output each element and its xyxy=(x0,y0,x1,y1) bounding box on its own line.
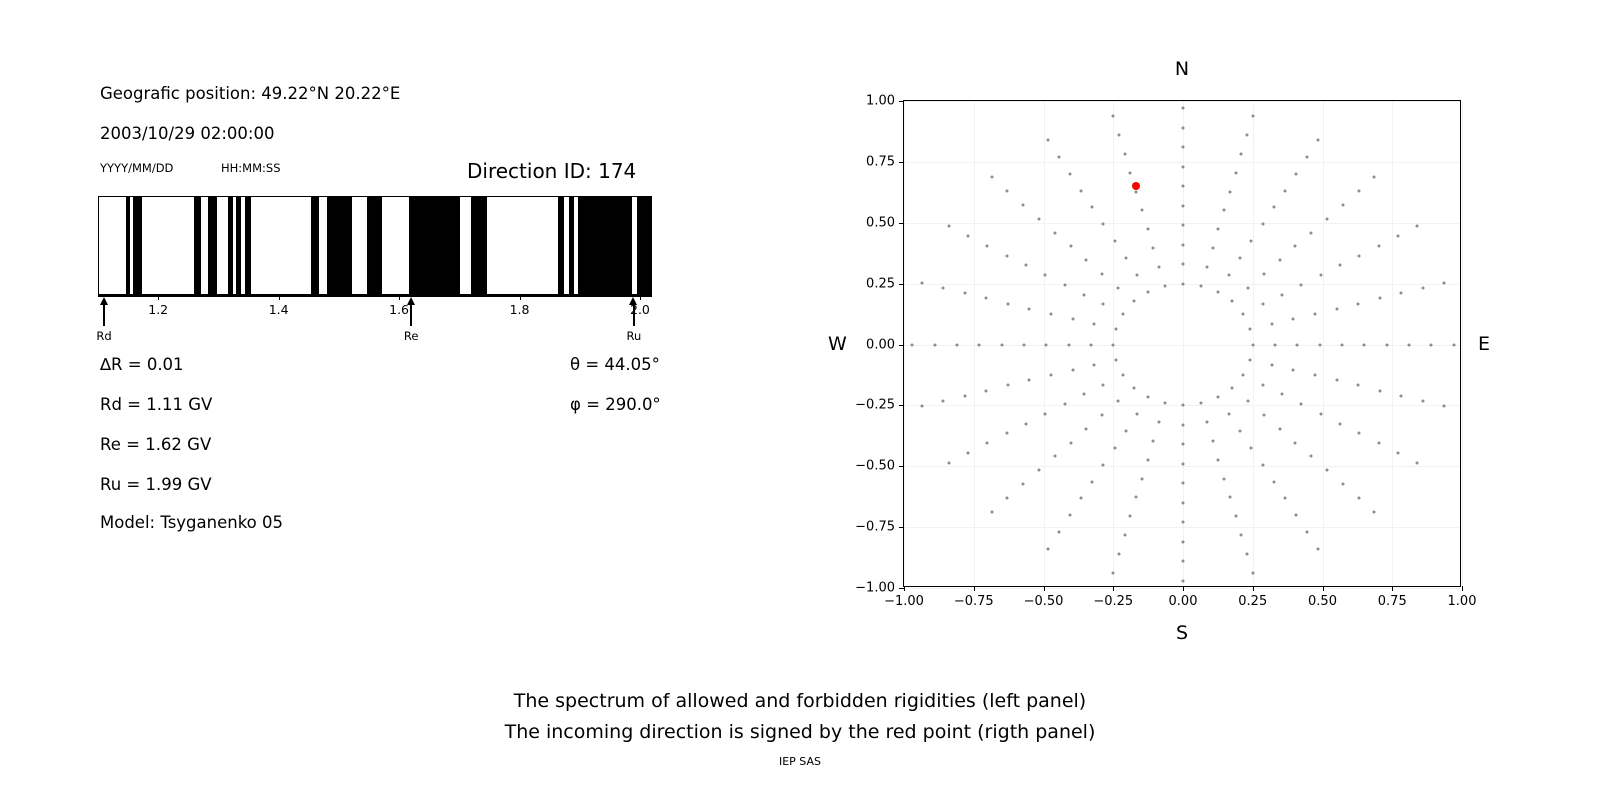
direction-point xyxy=(1234,515,1237,518)
direction-point xyxy=(1314,312,1317,315)
marker-label-re: Re xyxy=(404,329,419,343)
direction-point xyxy=(1044,274,1047,277)
plot-y-tick-label: 0.00 xyxy=(866,337,895,352)
direction-point xyxy=(1397,235,1400,238)
plot-y-tick xyxy=(899,223,904,224)
direction-grid-plot: −1.00−0.75−0.50−0.250.000.250.500.751.00… xyxy=(903,100,1461,587)
direction-point xyxy=(1182,243,1185,246)
direction-point xyxy=(1163,284,1166,287)
plot-y-tick-label: 0.50 xyxy=(866,215,895,230)
direction-point xyxy=(1378,297,1381,300)
gridline-horizontal xyxy=(904,466,1460,467)
direction-point xyxy=(1182,423,1185,426)
direction-point xyxy=(1135,273,1138,276)
marker-arrowhead-ru xyxy=(629,297,637,305)
direction-point xyxy=(1049,374,1052,377)
marker-arrow-rd xyxy=(103,304,105,326)
direction-point xyxy=(1443,282,1446,285)
plot-x-tick-label: 0.50 xyxy=(1308,594,1337,609)
direction-point xyxy=(1310,231,1313,234)
plot-x-tick-label: 0.75 xyxy=(1378,594,1407,609)
gridline-vertical xyxy=(1462,101,1463,586)
direction-point xyxy=(1147,396,1150,399)
direction-point xyxy=(1037,469,1040,472)
direction-point xyxy=(1044,412,1047,415)
direction-point xyxy=(1216,290,1219,293)
direction-point xyxy=(1357,302,1360,305)
plot-x-tick-label: −0.75 xyxy=(954,594,994,609)
direction-point xyxy=(1272,206,1275,209)
direction-point xyxy=(1069,245,1072,248)
direction-point xyxy=(1339,264,1342,267)
direction-point xyxy=(1005,254,1008,257)
gridline-vertical xyxy=(974,101,975,586)
direction-point xyxy=(1117,552,1120,555)
direction-point xyxy=(1135,190,1138,193)
direction-point xyxy=(963,292,966,295)
direction-point xyxy=(1251,343,1254,346)
direction-point xyxy=(1123,152,1126,155)
direction-point xyxy=(1281,293,1284,296)
direction-point xyxy=(1247,400,1250,403)
direction-point xyxy=(1069,172,1072,175)
gridline-horizontal xyxy=(904,588,1460,589)
direction-point xyxy=(1377,244,1380,247)
direction-point xyxy=(933,343,936,346)
direction-point xyxy=(1182,579,1185,582)
phi-value: φ = 290.0° xyxy=(570,395,661,414)
plot-y-tick xyxy=(899,527,904,528)
direction-point xyxy=(1093,322,1096,325)
direction-point xyxy=(1319,274,1322,277)
direction-point xyxy=(1116,286,1119,289)
direction-point xyxy=(1182,482,1185,485)
direction-point xyxy=(1246,552,1249,555)
direction-point xyxy=(1071,369,1074,372)
plot-y-tick xyxy=(899,466,904,467)
direction-point xyxy=(1247,286,1250,289)
plot-x-tick-label: −1.00 xyxy=(884,594,924,609)
direction-point xyxy=(1335,379,1338,382)
direction-point xyxy=(1069,514,1072,517)
gridline-horizontal xyxy=(904,527,1460,528)
direction-point xyxy=(1045,343,1048,346)
rd-value: Rd = 1.11 GV xyxy=(100,395,212,414)
direction-point xyxy=(1057,155,1060,158)
direction-point xyxy=(1262,414,1265,417)
gridline-horizontal xyxy=(904,162,1460,163)
direction-point xyxy=(1318,343,1321,346)
direction-point xyxy=(1306,531,1309,534)
direction-point xyxy=(990,176,993,179)
direction-point xyxy=(1249,327,1252,330)
caption-line-1: The spectrum of allowed and forbidden ri… xyxy=(0,686,1600,717)
direction-point xyxy=(1182,165,1185,168)
direction-point xyxy=(1294,514,1297,517)
direction-point xyxy=(1071,317,1074,320)
direction-point xyxy=(1339,422,1342,425)
plot-y-tick xyxy=(899,162,904,163)
direction-point xyxy=(1116,400,1119,403)
model-value: Model: Tsyganenko 05 xyxy=(100,513,283,532)
direction-point xyxy=(1246,134,1249,137)
direction-point xyxy=(986,442,989,445)
direction-point xyxy=(1400,394,1403,397)
plot-x-tick-label: 1.00 xyxy=(1448,594,1477,609)
plot-y-tick-label: −0.75 xyxy=(855,520,895,535)
marker-arrow-re xyxy=(410,304,412,326)
direction-point xyxy=(1093,364,1096,367)
direction-point xyxy=(1182,146,1185,149)
direction-point xyxy=(1132,386,1135,389)
direction-point xyxy=(1182,185,1185,188)
direction-point xyxy=(1113,240,1116,243)
direction-point xyxy=(1053,231,1056,234)
direction-point xyxy=(1294,172,1297,175)
plot-y-tick xyxy=(899,345,904,346)
direction-point xyxy=(1358,432,1361,435)
plot-x-tick-label: 0.00 xyxy=(1169,594,1198,609)
direction-point xyxy=(990,510,993,513)
direction-point xyxy=(986,244,989,247)
plot-y-tick-label: −0.25 xyxy=(855,398,895,413)
direction-point xyxy=(1335,307,1338,310)
direction-point xyxy=(1111,571,1114,574)
direction-point xyxy=(985,297,988,300)
direction-point xyxy=(1228,190,1231,193)
re-value: Re = 1.62 GV xyxy=(100,435,211,454)
footer-text: IEP SAS xyxy=(0,755,1600,768)
direction-point xyxy=(1067,343,1070,346)
direction-point xyxy=(966,451,969,454)
direction-point xyxy=(1292,369,1295,372)
direction-point xyxy=(1114,327,1117,330)
direction-point xyxy=(1317,548,1320,551)
direction-point xyxy=(1182,462,1185,465)
direction-point xyxy=(1281,393,1284,396)
marker-arrowhead-re xyxy=(407,297,415,305)
direction-point xyxy=(1278,427,1281,430)
direction-point xyxy=(1416,461,1419,464)
direction-point xyxy=(1121,313,1124,316)
direction-point xyxy=(1452,343,1455,346)
direction-point xyxy=(1006,496,1009,499)
direction-point xyxy=(1124,429,1127,432)
direction-point xyxy=(1117,134,1120,137)
direction-point xyxy=(1242,373,1245,376)
direction-point xyxy=(1135,496,1138,499)
direction-point xyxy=(942,287,945,290)
direction-point xyxy=(1082,293,1085,296)
left-panel: Geografic position: 49.22°N 20.22°E 2003… xyxy=(0,0,760,800)
direction-point xyxy=(1152,247,1155,250)
direction-point xyxy=(1006,190,1009,193)
direction-point xyxy=(920,282,923,285)
direction-point xyxy=(1373,510,1376,513)
direction-point xyxy=(942,399,945,402)
marker-label-ru: Ru xyxy=(627,329,642,343)
direction-point xyxy=(1182,404,1185,407)
direction-point xyxy=(1250,446,1253,449)
direction-point xyxy=(1182,126,1185,129)
direction-point xyxy=(1357,384,1360,387)
direction-point xyxy=(1294,245,1297,248)
incoming-direction-point xyxy=(1132,182,1140,190)
direction-point xyxy=(1252,571,1255,574)
direction-point xyxy=(1231,300,1234,303)
direction-point xyxy=(1022,482,1025,485)
marker-arrowhead-rd xyxy=(100,297,108,305)
direction-point xyxy=(1112,343,1115,346)
direction-point xyxy=(1091,480,1094,483)
direction-point xyxy=(1146,458,1149,461)
direction-point xyxy=(1024,264,1027,267)
gridline-vertical xyxy=(1183,101,1184,586)
direction-point xyxy=(1024,422,1027,425)
direction-point xyxy=(1228,496,1231,499)
direction-point xyxy=(1049,312,1052,315)
gridline-vertical xyxy=(904,101,905,586)
plot-x-tick xyxy=(1044,586,1045,591)
direction-point xyxy=(1085,259,1088,262)
direction-point xyxy=(1082,393,1085,396)
direction-point xyxy=(1140,477,1143,480)
direction-point xyxy=(1006,384,1009,387)
direction-point xyxy=(1124,257,1127,260)
direction-point xyxy=(1102,463,1105,466)
marker-label-rd: Rd xyxy=(96,329,111,343)
direction-point xyxy=(1101,272,1104,275)
direction-point xyxy=(947,461,950,464)
direction-point xyxy=(1261,383,1264,386)
direction-point xyxy=(1132,300,1135,303)
direction-point xyxy=(1057,531,1060,534)
theta-value: θ = 44.05° xyxy=(570,355,660,374)
direction-point xyxy=(1211,439,1214,442)
direction-point xyxy=(1046,548,1049,551)
direction-point xyxy=(1123,534,1126,537)
direction-point xyxy=(1102,383,1105,386)
direction-point xyxy=(1182,224,1185,227)
direction-point xyxy=(1261,463,1264,466)
caption: The spectrum of allowed and forbidden ri… xyxy=(0,686,1600,748)
direction-point xyxy=(1239,429,1242,432)
direction-point xyxy=(1111,115,1114,118)
direction-point xyxy=(1205,265,1208,268)
direction-point xyxy=(1407,343,1410,346)
direction-point xyxy=(1242,313,1245,316)
direction-point xyxy=(1240,534,1243,537)
plot-x-tick xyxy=(974,586,975,591)
plot-x-tick xyxy=(1323,586,1324,591)
direction-point xyxy=(1252,115,1255,118)
plot-x-tick xyxy=(1462,586,1463,591)
direction-point xyxy=(1358,254,1361,257)
direction-point xyxy=(1416,225,1419,228)
direction-point xyxy=(1357,496,1360,499)
direction-point xyxy=(1278,259,1281,262)
compass-label-east: E xyxy=(1478,333,1490,355)
direction-point xyxy=(985,389,988,392)
direction-point xyxy=(1147,290,1150,293)
direction-point xyxy=(1283,189,1286,192)
direction-point xyxy=(1101,414,1104,417)
direction-point xyxy=(1211,247,1214,250)
direction-point xyxy=(956,343,959,346)
direction-point xyxy=(1400,292,1403,295)
direction-point xyxy=(1114,359,1117,362)
plot-x-tick-label: −0.25 xyxy=(1093,594,1133,609)
direction-point xyxy=(1085,427,1088,430)
direction-point xyxy=(1228,273,1231,276)
direction-point xyxy=(1341,343,1344,346)
direction-point xyxy=(1234,171,1237,174)
plot-y-tick-label: 1.00 xyxy=(866,94,895,109)
direction-point xyxy=(920,404,923,407)
direction-point xyxy=(963,394,966,397)
direction-point xyxy=(1274,343,1277,346)
plot-x-tick xyxy=(1113,586,1114,591)
direction-point xyxy=(1223,209,1226,212)
direction-point xyxy=(1377,442,1380,445)
ru-value: Ru = 1.99 GV xyxy=(100,475,212,494)
direction-point xyxy=(1063,403,1066,406)
gridline-vertical xyxy=(1323,101,1324,586)
direction-point xyxy=(1239,257,1242,260)
direction-point xyxy=(1182,521,1185,524)
direction-point xyxy=(1296,343,1299,346)
direction-point xyxy=(978,343,981,346)
direction-point xyxy=(1053,455,1056,458)
direction-point xyxy=(1421,399,1424,402)
direction-point xyxy=(1028,307,1031,310)
direction-point xyxy=(1430,343,1433,346)
direction-point xyxy=(1326,217,1329,220)
direction-point xyxy=(1217,228,1220,231)
direction-point xyxy=(1182,443,1185,446)
direction-point xyxy=(1182,107,1185,110)
direction-point xyxy=(1216,396,1219,399)
direction-point xyxy=(1200,402,1203,405)
direction-point xyxy=(1300,403,1303,406)
direction-point xyxy=(1385,343,1388,346)
direction-point xyxy=(1270,364,1273,367)
direction-point xyxy=(1182,560,1185,563)
direction-point xyxy=(1152,439,1155,442)
direction-point xyxy=(1231,386,1234,389)
direction-point xyxy=(911,343,914,346)
plot-y-tick-label: 0.75 xyxy=(866,154,895,169)
direction-point xyxy=(1080,189,1083,192)
direction-point xyxy=(1205,421,1208,424)
marker-arrow-ru xyxy=(633,304,635,326)
direction-point xyxy=(1217,458,1220,461)
direction-point xyxy=(1028,379,1031,382)
direction-point xyxy=(1091,206,1094,209)
direction-point xyxy=(1319,412,1322,415)
direction-point xyxy=(1158,265,1161,268)
direction-point xyxy=(1363,343,1366,346)
direction-point xyxy=(1063,283,1066,286)
plot-x-tick xyxy=(1392,586,1393,591)
caption-line-2: The incoming direction is signed by the … xyxy=(0,717,1600,748)
direction-point xyxy=(1317,138,1320,141)
direction-point xyxy=(1228,413,1231,416)
direction-point xyxy=(1300,283,1303,286)
direction-point xyxy=(1314,374,1317,377)
direction-point xyxy=(1146,228,1149,231)
direction-point xyxy=(1261,223,1264,226)
direction-point xyxy=(1341,482,1344,485)
direction-point xyxy=(1022,204,1025,207)
direction-point xyxy=(1240,152,1243,155)
direction-point xyxy=(1089,343,1092,346)
direction-point xyxy=(1341,204,1344,207)
direction-point xyxy=(1046,138,1049,141)
direction-point xyxy=(1135,413,1138,416)
delta-r-value: ∆R = 0.01 xyxy=(100,355,184,374)
gridline-horizontal xyxy=(904,101,1460,102)
direction-point xyxy=(1000,343,1003,346)
direction-point xyxy=(966,235,969,238)
direction-point xyxy=(1129,171,1132,174)
direction-point xyxy=(1373,176,1376,179)
direction-point xyxy=(947,225,950,228)
plot-y-tick xyxy=(899,101,904,102)
direction-point xyxy=(1310,455,1313,458)
plot-x-tick xyxy=(1253,586,1254,591)
compass-label-north: N xyxy=(1175,58,1189,80)
direction-point xyxy=(1223,477,1226,480)
direction-point xyxy=(1443,404,1446,407)
direction-point xyxy=(1182,263,1185,266)
direction-point xyxy=(1272,480,1275,483)
compass-label-west: W xyxy=(828,333,847,355)
direction-point xyxy=(1102,223,1105,226)
plot-y-tick xyxy=(899,405,904,406)
direction-point xyxy=(1022,343,1025,346)
plot-y-tick-label: −0.50 xyxy=(855,459,895,474)
direction-point xyxy=(1037,217,1040,220)
direction-point xyxy=(1158,421,1161,424)
direction-point xyxy=(1182,501,1185,504)
direction-point xyxy=(1182,282,1185,285)
direction-point xyxy=(1270,322,1273,325)
direction-point xyxy=(1357,190,1360,193)
direction-point xyxy=(1378,389,1381,392)
direction-point xyxy=(1294,441,1297,444)
plot-x-tick xyxy=(1183,586,1184,591)
direction-point xyxy=(1249,359,1252,362)
direction-point xyxy=(1121,373,1124,376)
direction-point xyxy=(1080,497,1083,500)
direction-point xyxy=(1292,317,1295,320)
direction-point xyxy=(1113,446,1116,449)
direction-point xyxy=(1200,284,1203,287)
direction-point xyxy=(1140,209,1143,212)
plot-x-tick xyxy=(904,586,905,591)
direction-point xyxy=(1006,302,1009,305)
plot-y-tick xyxy=(899,284,904,285)
direction-point xyxy=(1306,155,1309,158)
direction-point xyxy=(1129,515,1132,518)
direction-point xyxy=(1326,469,1329,472)
direction-point xyxy=(1421,287,1424,290)
direction-point xyxy=(1069,441,1072,444)
direction-point xyxy=(1005,432,1008,435)
direction-point xyxy=(1102,303,1105,306)
right-panel: N S W E −1.00−0.75−0.50−0.250.000.250.50… xyxy=(760,0,1600,800)
